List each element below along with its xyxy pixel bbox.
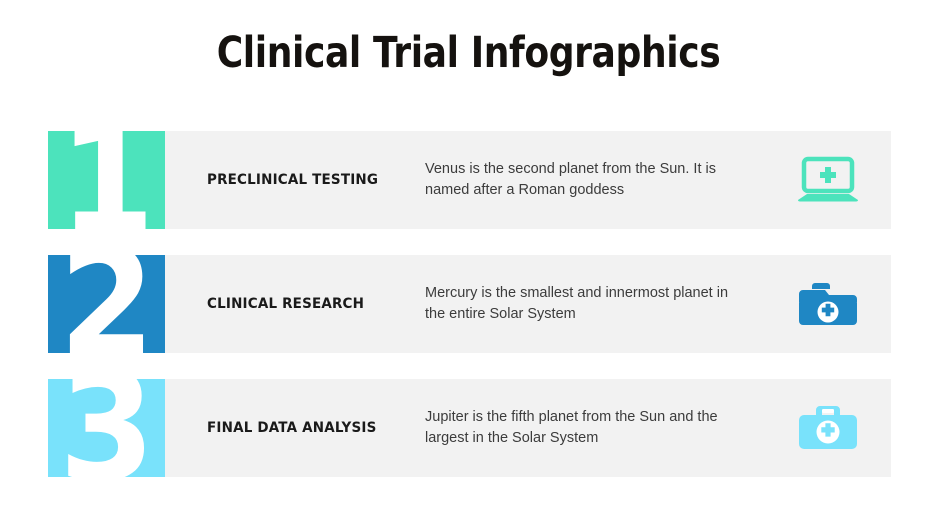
step-row-2[interactable]: 2 CLINICAL RESEARCH Mercury is the small… [48,255,891,353]
bottom-spacer [48,519,891,527]
step-icon-column-1 [765,156,891,204]
step-description-2: Mercury is the smallest and innermost pl… [425,283,730,326]
step-number-block-1: 1 [48,131,165,229]
step-label-1: PRECLINICAL TESTING [207,172,397,188]
step-number-3: 3 [58,379,154,477]
step-description-3: Jupiter is the fifth planet from the Sun… [425,407,730,450]
step-label-column-3: FINAL DATA ANALYSIS [165,420,411,436]
medical-folder-icon [799,280,857,328]
step-label-column-2: CLINICAL RESEARCH [165,296,411,312]
step-number-1: 1 [58,131,154,229]
step-description-column-2: Mercury is the smallest and innermost pl… [411,283,765,326]
step-description-column-1: Venus is the second planet from the Sun.… [411,159,765,202]
infographic-slide: Clinical Trial Infographics 1 PRECLINICA… [0,0,937,527]
page-title: Clinical Trial Infographics [75,28,862,78]
steps-list: 1 PRECLINICAL TESTING Venus is the secon… [48,131,891,477]
step-icon-column-2 [765,280,891,328]
laptop-medical-icon [797,156,859,204]
step-icon-column-3 [765,404,891,452]
step-description-1: Venus is the second planet from the Sun.… [425,159,730,202]
step-number-block-2: 2 [48,255,165,353]
step-row-1[interactable]: 1 PRECLINICAL TESTING Venus is the secon… [48,131,891,229]
first-aid-kit-icon [799,404,857,452]
step-description-column-3: Jupiter is the fifth planet from the Sun… [411,407,765,450]
step-label-column-1: PRECLINICAL TESTING [165,172,411,188]
step-number-block-3: 3 [48,379,165,477]
step-label-3: FINAL DATA ANALYSIS [207,420,397,436]
step-number-2: 2 [58,255,154,353]
step-label-2: CLINICAL RESEARCH [207,296,397,312]
step-row-3[interactable]: 3 FINAL DATA ANALYSIS Jupiter is the fif… [48,379,891,477]
